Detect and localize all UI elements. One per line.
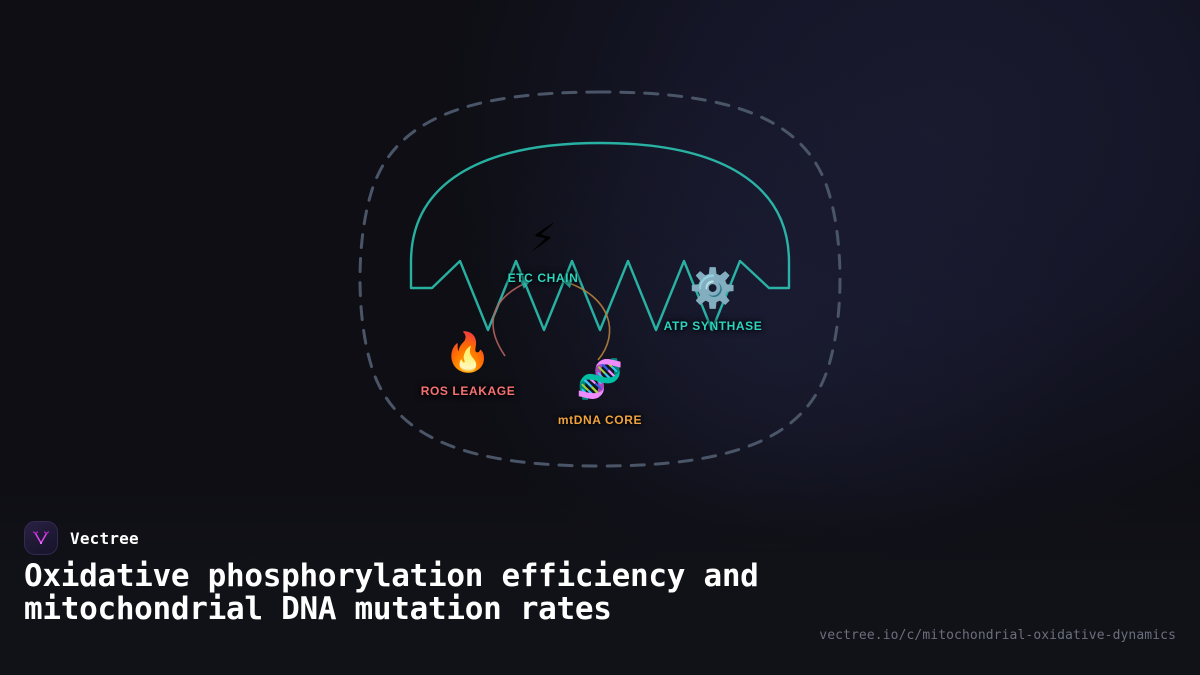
node-label-mtdna-core[interactable]: mtDNA CORE [558,413,642,427]
node-label-etc-chain[interactable]: ETC CHAIN [508,271,579,285]
fire-icon: 🔥 [444,333,491,371]
footer: Vectree Oxidative phosphorylation effici… [0,495,1200,675]
node-label-ros-leakage[interactable]: ROS LEAKAGE [421,384,516,398]
connector-ros-to-etc [493,281,530,356]
source-url: vectree.io/c/mitochondrial-oxidative-dyn… [819,628,1176,643]
outer-membrane-path [360,92,840,466]
node-label-atp-synthase[interactable]: ATP SYNTHASE [664,319,763,333]
vectree-logo-glyph [31,528,51,548]
dna-icon: 🧬 [576,360,623,398]
brand-name: Vectree [70,529,139,548]
page-title: Oxidative phosphorylation efficiency and… [24,560,784,626]
brand-row[interactable]: Vectree [24,521,139,555]
mitochondrion-diagram: ⚡ ETC CHAIN ⚙️ ATP SYNTHASE 🔥 ROS LEAKAG… [0,0,1200,500]
gear-icon: ⚙️ [689,269,736,307]
vectree-logo-icon [24,521,58,555]
high-voltage-icon: ⚡ [530,219,557,257]
